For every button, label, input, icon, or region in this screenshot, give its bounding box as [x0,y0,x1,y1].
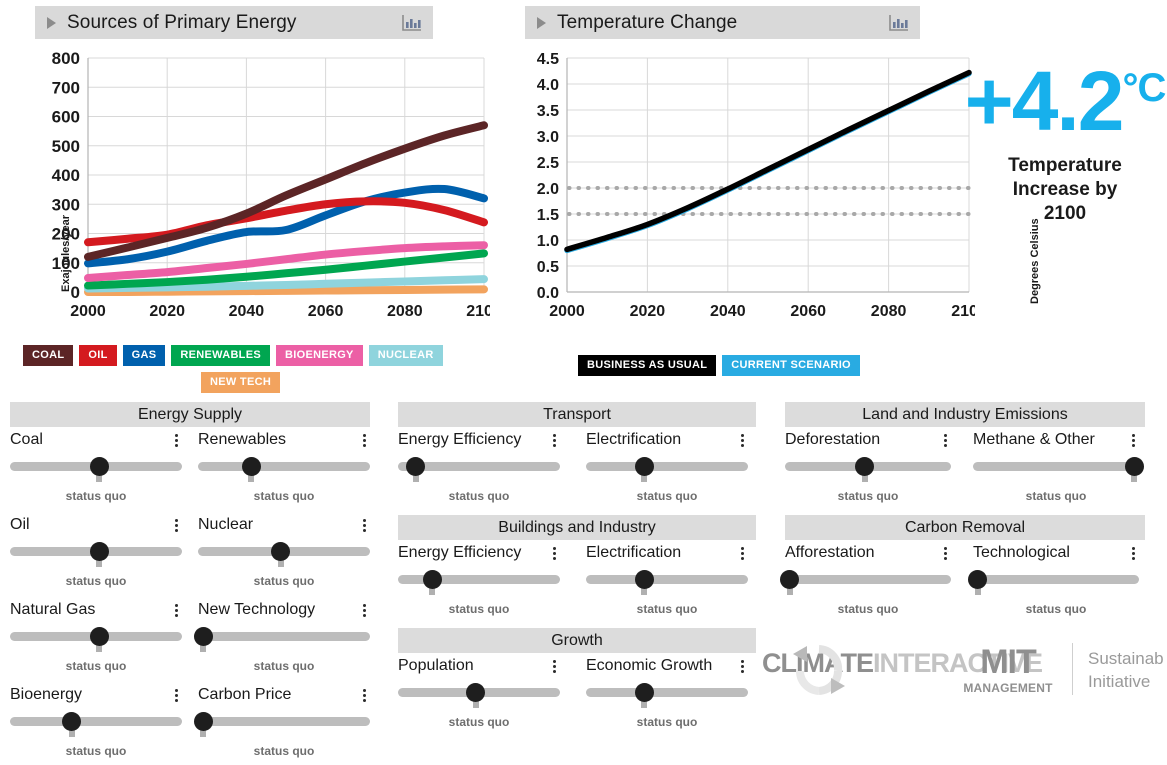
slider-group-header-buildings-and-industry: Buildings and Industry [398,515,756,540]
panel-temperature-change: Temperature Change [525,6,920,39]
slider-label: Natural Gas [10,601,95,619]
energy-legend-row-2: NEW TECH [23,372,493,393]
slider-technological: Technologicalstatus quo [973,540,1139,616]
slider-label-row: Carbon Price [198,682,370,708]
slider-track[interactable] [973,462,1139,471]
kebab-menu-icon[interactable] [1128,545,1139,562]
bar-chart-icon[interactable] [401,13,423,33]
slider-track-area[interactable] [586,570,748,592]
slider-label-row: Economic Growth [586,653,748,679]
slider-group-header-carbon-removal: Carbon Removal [785,515,1145,540]
slider-knob[interactable] [90,542,109,561]
slider-nuclear: Nuclearstatus quo [198,512,370,588]
triangle-right-icon[interactable] [47,17,56,29]
slider-methane-other: Methane & Otherstatus quo [973,427,1139,503]
slider-group-header-energy-supply: Energy Supply [10,402,370,427]
slider-track-area[interactable] [198,627,370,649]
slider-track-area[interactable] [785,570,951,592]
temperature-readout-caption: Temperature Increase by 2100 [960,154,1167,227]
slider-label: Afforestation [785,544,875,562]
slider-status-label: status quo [973,602,1139,616]
slider-group-transport: TransportEnergy Efficiencystatus quoElec… [398,402,756,512]
logo-sustainability-line1: Sustainab [1088,648,1164,671]
slider-label: Energy Efficiency [398,431,521,449]
slider-label-row: Bioenergy [10,682,182,708]
slider-track[interactable] [586,575,748,584]
svg-text:800: 800 [52,49,80,68]
slider-knob[interactable] [635,570,654,589]
slider-knob[interactable] [466,683,485,702]
svg-text:2100: 2100 [951,303,975,320]
slider-track[interactable] [198,632,370,641]
panel-title-temperature: Temperature Change [557,12,737,34]
kebab-menu-icon[interactable] [549,658,560,675]
slider-knob[interactable] [62,712,81,731]
logo-mit-sub: MANAGEMENT [958,681,1058,695]
slider-status-label: status quo [198,489,370,503]
triangle-right-icon[interactable] [537,17,546,29]
slider-energy-efficiency: Energy Efficiencystatus quo [398,427,560,503]
svg-text:4.5: 4.5 [537,51,559,68]
slider-status-label: status quo [398,489,560,503]
slider-status-label: status quo [398,715,560,729]
slider-track-area[interactable] [398,457,560,479]
svg-text:3.0: 3.0 [537,129,559,146]
slider-population: Populationstatus quo [398,653,560,729]
kebab-menu-icon[interactable] [171,687,182,704]
svg-text:2040: 2040 [229,303,265,320]
slider-status-label: status quo [198,659,370,673]
svg-text:700: 700 [52,78,80,97]
slider-label: Energy Efficiency [398,544,521,562]
svg-text:0.0: 0.0 [537,285,559,302]
slider-knob[interactable] [780,570,799,589]
logo-mit-main: MIT [958,645,1058,679]
slider-knob[interactable] [271,542,290,561]
slider-knob[interactable] [855,457,874,476]
slider-coal: Coalstatus quo [10,427,182,503]
slider-track-area[interactable] [198,712,370,734]
slider-label-row: Technological [973,540,1139,566]
slider-label-row: Electrification [586,540,748,566]
svg-text:2100: 2100 [466,303,490,320]
energy-chart-svg: 0100200300400500600700800200020202040206… [20,44,490,332]
slider-knob[interactable] [968,570,987,589]
slider-status-label: status quo [586,715,748,729]
slider-status-label: status quo [198,574,370,588]
svg-text:1.5: 1.5 [537,207,559,224]
kebab-menu-icon[interactable] [737,432,748,449]
slider-track-area[interactable] [398,570,560,592]
slider-label: Bioenergy [10,686,82,704]
slider-knob[interactable] [242,457,261,476]
bar-chart-icon[interactable] [888,13,910,33]
kebab-menu-icon[interactable] [359,517,370,534]
readout-caption-line2: Increase by [960,178,1167,202]
slider-group-buildings-and-industry: Buildings and IndustryEnergy Efficiencys… [398,515,756,625]
slider-status-label: status quo [10,659,182,673]
slider-group-growth: GrowthPopulationstatus quoEconomic Growt… [398,628,756,738]
svg-text:2020: 2020 [630,303,666,320]
slider-group-body-buildings-and-industry: Energy Efficiencystatus quoElectrificati… [398,540,756,625]
slider-label-row: Population [398,653,560,679]
slider-label-row: Electrification [586,427,748,453]
readout-caption-line3: 2100 [960,202,1167,226]
svg-text:2080: 2080 [871,303,907,320]
temperature-y-axis-label: Degrees Celsius [1029,218,1041,304]
slider-status-label: status quo [198,744,370,758]
slider-group-header-growth: Growth [398,628,756,653]
kebab-menu-icon[interactable] [171,517,182,534]
slider-label-row: Natural Gas [10,597,182,623]
slider-knob[interactable] [635,683,654,702]
slider-group-body-energy-supply: Coalstatus quoRenewablesstatus quoOilsta… [10,427,370,765]
slider-knob[interactable] [194,627,213,646]
slider-energy-efficiency: Energy Efficiencystatus quo [398,540,560,616]
slider-track-area[interactable] [10,542,182,564]
svg-text:1.0: 1.0 [537,233,559,250]
slider-label-row: New Technology [198,597,370,623]
slider-group-header-land-and-industry-emissions: Land and Industry Emissions [785,402,1145,427]
panel-title-energy: Sources of Primary Energy [67,12,297,34]
degree-celsius-unit: °C [1122,66,1165,110]
svg-text:500: 500 [52,137,80,156]
kebab-menu-icon[interactable] [1128,432,1139,449]
slider-label-row: Oil [10,512,182,538]
climate-simulation-dashboard: Sources of Primary Energy Exajoules/year… [0,0,1167,765]
slider-status-label: status quo [586,489,748,503]
legend-chip-gas[interactable]: GAS [123,345,166,366]
logo-sustainability-line2: Initiative [1088,671,1164,694]
circular-arrows-icon [790,640,848,700]
slider-label: Electrification [586,431,681,449]
slider-track[interactable] [586,462,748,471]
legend-chip-nuclear[interactable]: NUCLEAR [369,345,443,366]
slider-label: Technological [973,544,1070,562]
svg-text:600: 600 [52,108,80,127]
svg-text:2060: 2060 [790,303,826,320]
temperature-chart-svg: 0.00.51.01.52.02.53.03.54.04.52000202020… [505,44,975,332]
logo-divider [1072,643,1073,695]
slider-status-label: status quo [398,602,560,616]
slider-label: Electrification [586,544,681,562]
slider-group-land-and-industry-emissions: Land and Industry EmissionsDeforestation… [785,402,1145,512]
slider-track-area[interactable] [398,683,560,705]
chart-temperature-change: Degrees Celsius 0.00.51.01.52.02.53.03.5… [505,44,975,332]
slider-status-label: status quo [10,489,182,503]
kebab-menu-icon[interactable] [359,602,370,619]
slider-label: Coal [10,431,43,449]
svg-text:4.0: 4.0 [537,77,559,94]
slider-group-carbon-removal: Carbon RemovalAfforestationstatus quoTec… [785,515,1145,625]
panel-header-energy[interactable]: Sources of Primary Energy [35,6,433,39]
slider-economic-growth: Economic Growthstatus quo [586,653,748,729]
kebab-menu-icon[interactable] [171,602,182,619]
slider-label: Economic Growth [586,657,712,675]
svg-text:2080: 2080 [387,303,423,320]
panel-sources-of-primary-energy: Sources of Primary Energy [35,6,433,39]
logo-sustainability-initiative: Sustainab Initiative [1088,648,1164,694]
legend-chip-oil[interactable]: OIL [79,345,116,366]
slider-knob[interactable] [90,457,109,476]
slider-label: New Technology [198,601,315,619]
slider-track[interactable] [10,717,182,726]
slider-new-technology: New Technologystatus quo [198,597,370,673]
slider-label-row: Nuclear [198,512,370,538]
slider-group-body-growth: Populationstatus quoEconomic Growthstatu… [398,653,756,738]
slider-group-body-transport: Energy Efficiencystatus quoElectrificati… [398,427,756,512]
slider-status-label: status quo [10,574,182,588]
slider-group-body-carbon-removal: Afforestationstatus quoTechnologicalstat… [785,540,1145,625]
slider-track-area[interactable] [785,457,951,479]
svg-text:2020: 2020 [149,303,185,320]
kebab-menu-icon[interactable] [737,545,748,562]
slider-group-body-land-and-industry-emissions: Deforestationstatus quoMethane & Otherst… [785,427,1145,512]
legend-chip-business-as-usual[interactable]: BUSINESS AS USUAL [578,355,716,376]
slider-label: Oil [10,516,30,534]
slider-track-area[interactable] [10,712,182,734]
slider-label-row: Methane & Other [973,427,1139,453]
slider-label-row: Coal [10,427,182,453]
svg-text:0.5: 0.5 [537,259,559,276]
legend-chip-bioenergy[interactable]: BIOENERGY [276,345,363,366]
slider-renewables: Renewablesstatus quo [198,427,370,503]
chart-sources-of-primary-energy: Exajoules/year 0100200300400500600700800… [20,44,490,332]
slider-electrification: Electrificationstatus quo [586,427,748,503]
slider-knob[interactable] [406,457,425,476]
readout-caption-line1: Temperature [960,154,1167,178]
slider-carbon-price: Carbon Pricestatus quo [198,682,370,758]
legend-chip-new-tech[interactable]: NEW TECH [201,372,280,393]
svg-text:2.0: 2.0 [537,181,559,198]
slider-label: Nuclear [198,516,253,534]
slider-track-area[interactable] [10,627,182,649]
slider-oil: Oilstatus quo [10,512,182,588]
slider-track-area[interactable] [973,570,1139,592]
slider-track-area[interactable] [10,457,182,479]
slider-status-label: status quo [785,602,951,616]
temperature-chart-legend: BUSINESS AS USUALCURRENT SCENARIO [578,355,968,376]
slider-knob[interactable] [1125,457,1144,476]
slider-track-area[interactable] [198,457,370,479]
slider-deforestation: Deforestationstatus quo [785,427,951,503]
slider-group-header-transport: Transport [398,402,756,427]
temperature-readout-number: +4.2 [965,54,1123,148]
energy-chart-legend: COALOILGASRENEWABLESBIOENERGYNUCLEARNEW … [23,345,493,393]
kebab-menu-icon[interactable] [737,658,748,675]
slider-status-label: status quo [586,602,748,616]
svg-text:2040: 2040 [710,303,746,320]
slider-natural-gas: Natural Gasstatus quo [10,597,182,673]
kebab-menu-icon[interactable] [549,545,560,562]
svg-text:3.5: 3.5 [537,103,559,120]
slider-label-row: Afforestation [785,540,951,566]
kebab-menu-icon[interactable] [359,687,370,704]
slider-knob[interactable] [423,570,442,589]
slider-electrification: Electrificationstatus quo [586,540,748,616]
slider-label-row: Energy Efficiency [398,427,560,453]
slider-label: Methane & Other [973,431,1095,449]
svg-text:300: 300 [52,195,80,214]
kebab-menu-icon[interactable] [359,432,370,449]
slider-afforestation: Afforestationstatus quo [785,540,951,616]
slider-track-area[interactable] [586,683,748,705]
svg-text:2.5: 2.5 [537,155,559,172]
legend-chip-current-scenario[interactable]: CURRENT SCENARIO [722,355,860,376]
slider-knob[interactable] [90,627,109,646]
slider-group-energy-supply: Energy SupplyCoalstatus quoRenewablessta… [10,402,370,765]
temperature-readout: +4.2°C Temperature Increase by 2100 [960,62,1167,227]
kebab-menu-icon[interactable] [940,432,951,449]
slider-knob[interactable] [635,457,654,476]
kebab-menu-icon[interactable] [549,432,560,449]
slider-track-area[interactable] [973,457,1139,479]
slider-track[interactable] [586,688,748,697]
slider-label: Carbon Price [198,686,291,704]
slider-label: Renewables [198,431,286,449]
slider-label-row: Energy Efficiency [398,540,560,566]
panel-header-temperature[interactable]: Temperature Change [525,6,920,39]
legend-chip-renewables[interactable]: RENEWABLES [171,345,270,366]
energy-y-axis-label: Exajoules/year [60,215,72,292]
slider-label: Population [398,657,474,675]
slider-track-area[interactable] [198,542,370,564]
slider-bioenergy: Bioenergystatus quo [10,682,182,758]
kebab-menu-icon[interactable] [171,432,182,449]
slider-track[interactable] [198,462,370,471]
legend-chip-coal[interactable]: COAL [23,345,73,366]
svg-text:400: 400 [52,166,80,185]
svg-text:2000: 2000 [549,303,585,320]
slider-knob[interactable] [194,712,213,731]
logo-mit: MIT MANAGEMENT [958,645,1058,695]
slider-status-label: status quo [973,489,1139,503]
svg-text:2000: 2000 [70,303,106,320]
slider-status-label: status quo [10,744,182,758]
svg-text:2060: 2060 [308,303,344,320]
slider-label: Deforestation [785,431,880,449]
slider-status-label: status quo [785,489,951,503]
temperature-readout-value: +4.2°C [960,62,1167,142]
slider-track[interactable] [785,575,951,584]
kebab-menu-icon[interactable] [940,545,951,562]
slider-track[interactable] [973,575,1139,584]
slider-label-row: Deforestation [785,427,951,453]
slider-track-area[interactable] [586,457,748,479]
slider-label-row: Renewables [198,427,370,453]
slider-track[interactable] [198,717,370,726]
